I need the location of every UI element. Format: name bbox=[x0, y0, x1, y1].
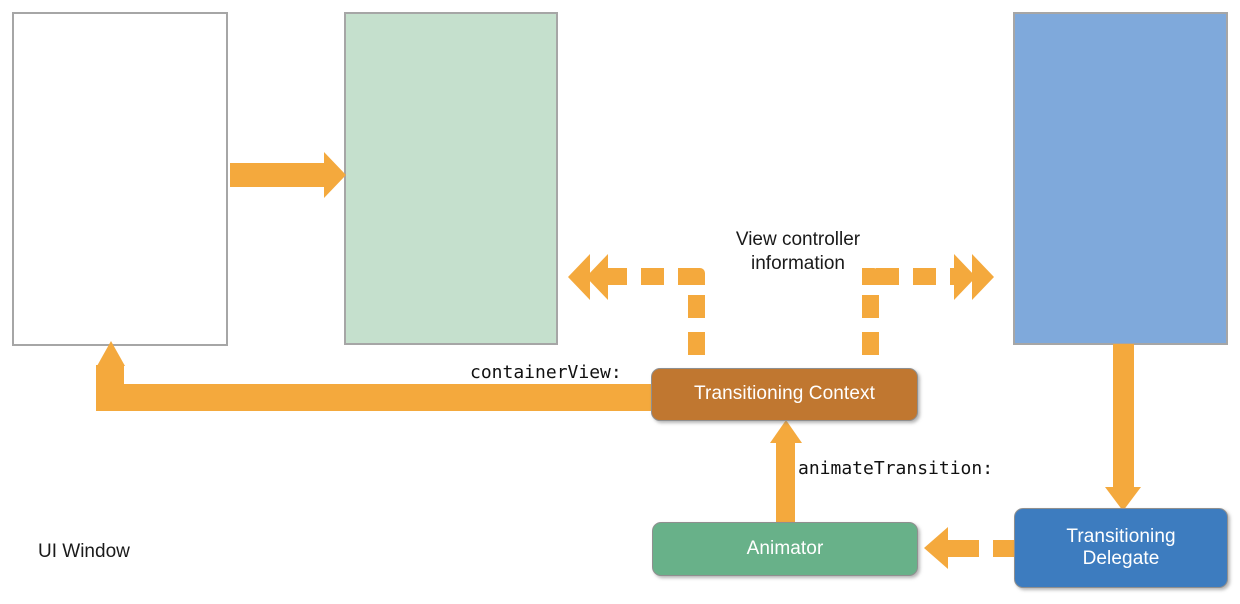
animator-box[interactable]: Animator bbox=[652, 522, 918, 576]
animate-transition-arrow-head-icon bbox=[770, 420, 802, 443]
to-view-controller-rect bbox=[344, 12, 558, 345]
context-to-to-view-chevron-inner-icon bbox=[586, 254, 608, 300]
animate-transition-arrow-shaft bbox=[776, 441, 795, 526]
ui-window-label: UI Window bbox=[38, 540, 130, 564]
transitioning-context-label: Transitioning Context bbox=[694, 383, 875, 405]
present-arrow-shaft bbox=[230, 163, 328, 187]
context-to-to-view-dash-corner bbox=[688, 268, 705, 285]
delegate-to-animator-dash-horizontal bbox=[956, 540, 1016, 557]
container-view-label: containerView: bbox=[470, 362, 622, 383]
transitioning-context-box[interactable]: Transitioning Context bbox=[651, 368, 918, 421]
container-view-arrow-head-icon bbox=[97, 341, 125, 366]
context-to-to-view-dash-vertical bbox=[688, 295, 705, 370]
transitioning-delegate-box[interactable]: Transitioning Delegate bbox=[1014, 508, 1228, 588]
context-to-window-dash-horizontal bbox=[876, 268, 958, 285]
container-view-arrow-shaft-vertical bbox=[96, 365, 124, 395]
animate-transition-label: animateTransition: bbox=[798, 458, 993, 479]
delegate-supply-arrow-shaft bbox=[1113, 344, 1134, 489]
container-view-arrow-shaft-horizontal bbox=[96, 384, 658, 411]
window-owner-rect bbox=[1013, 12, 1228, 345]
transitioning-delegate-label: Transitioning Delegate bbox=[1066, 526, 1175, 571]
animator-label: Animator bbox=[747, 538, 824, 560]
context-to-window-dash-vertical bbox=[862, 295, 879, 370]
delegate-to-animator-chevron-icon bbox=[924, 527, 948, 569]
context-to-window-chevron-outer-icon bbox=[972, 254, 994, 300]
view-controller-information-label: View controller information bbox=[718, 228, 878, 276]
present-arrow-head-icon bbox=[324, 152, 346, 198]
diagram-canvas: Transitioning Context Animator Transitio… bbox=[0, 0, 1240, 604]
from-view-controller-rect bbox=[12, 12, 228, 346]
context-to-to-view-dash-horizontal bbox=[604, 268, 690, 285]
